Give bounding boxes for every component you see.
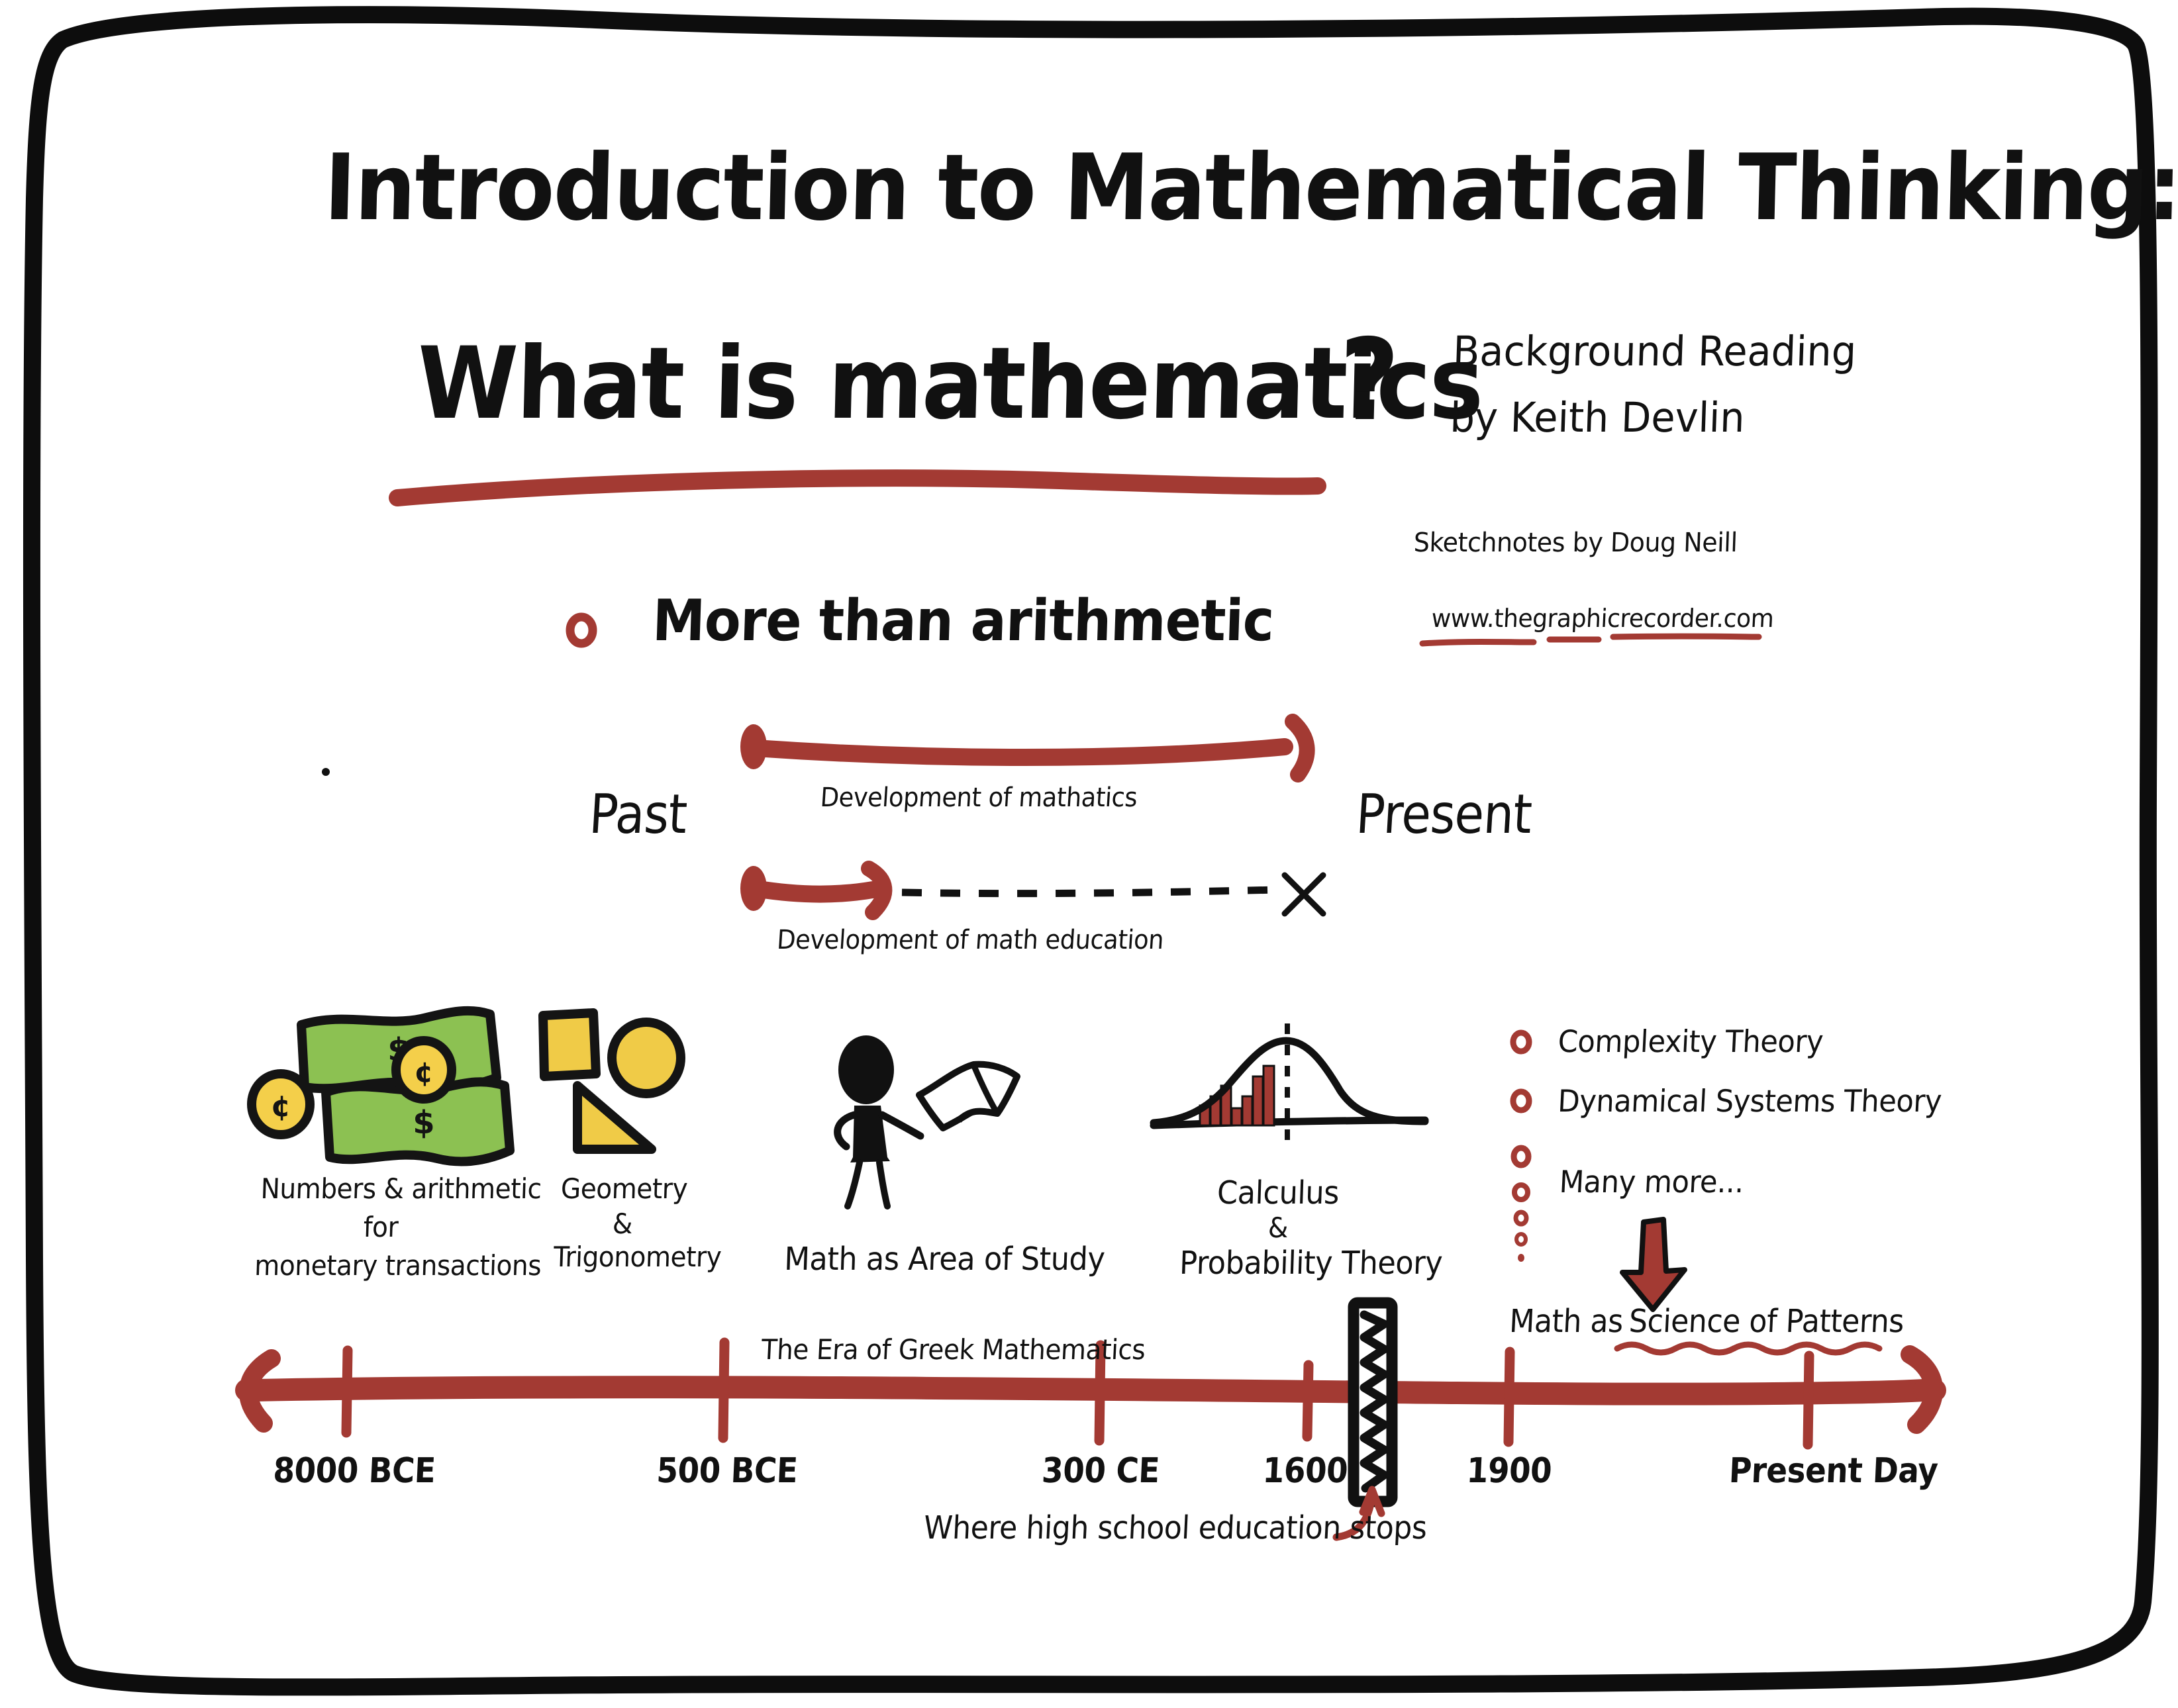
timeline-tick-label-5: Present Day — [1728, 1454, 1908, 1488]
modern-list-bullets — [1513, 1033, 1529, 1262]
calculus-caption-line2: & — [1191, 1214, 1365, 1242]
timeline-tick-label-2: 300 CE — [1034, 1454, 1167, 1488]
development-of-math-education-arrow — [740, 866, 1323, 914]
development-of-math-education-caption: Development of math education — [776, 927, 1164, 953]
svg-text:¢: ¢ — [271, 1090, 291, 1123]
development-of-math-arrow — [740, 722, 1307, 775]
money-icon: $ $ ¢ ¢ — [252, 1011, 510, 1162]
greek-era-label: The Era of Greek Mathematics — [761, 1336, 1146, 1364]
modern-list-item-0: Complexity Theory — [1558, 1026, 1824, 1057]
page-title-line1: Introduction to Mathematical Thinking: — [323, 142, 2178, 234]
science-of-patterns-underline — [1617, 1345, 1879, 1352]
page-title-line2: What is mathematics — [416, 334, 1484, 434]
conclusion-highlight: Science of Patterns — [1628, 1305, 1905, 1337]
calculus-caption-line3: Probability Theory — [1179, 1247, 1377, 1279]
area-of-study-caption: Math as Area of Study — [784, 1243, 1075, 1275]
stray-ink-dot — [322, 768, 330, 776]
modern-list-item-1: Dynamical Systems Theory — [1557, 1086, 1942, 1116]
main-bullet-label: More than arithmetic — [652, 593, 1275, 649]
website-url[interactable]: www.thegraphicrecorder.com — [1431, 606, 1775, 631]
svg-text:$: $ — [413, 1104, 434, 1141]
modern-list-item-2: Many more... — [1559, 1166, 1744, 1197]
money-caption-line2: for — [260, 1213, 501, 1241]
geometry-caption-line2: & — [560, 1210, 684, 1238]
money-caption-line1: Numbers & arithmetic — [260, 1175, 501, 1203]
sketchnotes-credit: Sketchnotes by Doug Neill — [1413, 530, 1738, 556]
calculus-caption-line1: Calculus — [1191, 1177, 1365, 1209]
question-mark: ? — [1338, 324, 1399, 437]
geometry-caption-line3: Trigonometry — [553, 1243, 693, 1271]
timeline-tick-label-1: 500 BCE — [656, 1454, 794, 1488]
url-underline — [1422, 636, 1759, 643]
timeline-tick-label-0: 8000 BCE — [272, 1454, 422, 1488]
down-arrow-icon — [1622, 1219, 1685, 1309]
timeline-tick-label-4: 1900 — [1452, 1454, 1566, 1488]
bullet-dot-icon — [570, 617, 593, 643]
svg-text:¢: ¢ — [414, 1056, 433, 1088]
geometry-shapes-icon — [543, 1013, 681, 1149]
byline-line1: Background Reading — [1452, 331, 1857, 372]
conclusion-prefix: Math as — [1509, 1305, 1624, 1337]
past-label: Past — [587, 788, 688, 842]
present-label: Present — [1355, 788, 1534, 842]
byline-line2: by Keith Devlin — [1450, 397, 1746, 438]
development-of-math-caption: Development of mathatics — [820, 784, 1138, 811]
bell-curve-icon — [1154, 1023, 1425, 1141]
title-underline — [397, 478, 1318, 498]
sketchnote-canvas: $ $ ¢ ¢ — [0, 0, 2178, 1708]
person-with-book-icon — [838, 1035, 1017, 1206]
wall-note-label: Where high school education stops — [923, 1512, 1428, 1544]
money-caption-line3: monetary transactions — [254, 1252, 508, 1280]
geometry-caption-line1: Geometry — [560, 1175, 684, 1203]
timeline-tick-label-3: 1600 — [1248, 1454, 1362, 1488]
